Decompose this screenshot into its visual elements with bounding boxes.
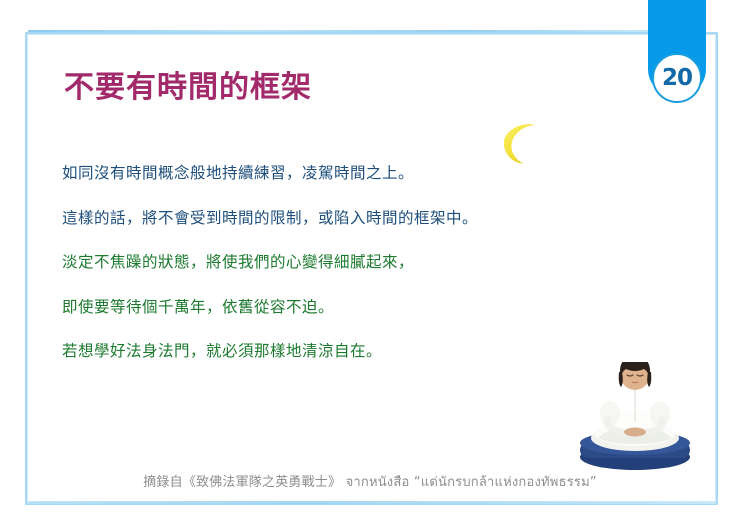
crescent-moon-icon <box>494 120 540 166</box>
meditating-person-illustration <box>570 362 700 472</box>
footer-chinese: 摘錄自《致佛法軍隊之英勇戰士》 <box>143 475 341 490</box>
footer-attribution: 摘錄自《致佛法軍隊之英勇戰士》 จากหนังสือ “แด่นักรบกล้า… <box>0 471 740 492</box>
body-text-block: 如同沒有時間概念般地持續練習，凌駕時間之上。 這樣的話，將不會受到時間的限制，或… <box>62 166 622 389</box>
footer-thai: จากหนังสือ “แด่นักรบกล้าแห่งกองทัพธรรม” <box>346 475 597 490</box>
page-number-label: 20 <box>662 67 692 90</box>
body-line: 若想學好法身法門，就必須那樣地清涼自在。 <box>62 344 622 360</box>
page-number-badge: 20 <box>652 53 702 103</box>
slide-canvas: 20 不要有時間的框架 如同沒有時間概念般地持續練習，凌駕時間之上。 這樣的話，… <box>0 0 740 523</box>
body-line: 如同沒有時間概念般地持續練習，凌駕時間之上。 <box>62 166 622 182</box>
body-line: 這樣的話，將不會受到時間的限制，或陷入時間的框架中。 <box>62 211 622 227</box>
frame-bottom-accent <box>28 501 716 504</box>
body-line: 淡定不焦躁的狀態，將使我們的心變得細膩起來， <box>62 255 622 271</box>
body-line: 即使要等待個千萬年，依舊從容不迫。 <box>62 300 622 316</box>
page-title: 不要有時間的框架 <box>64 62 312 106</box>
